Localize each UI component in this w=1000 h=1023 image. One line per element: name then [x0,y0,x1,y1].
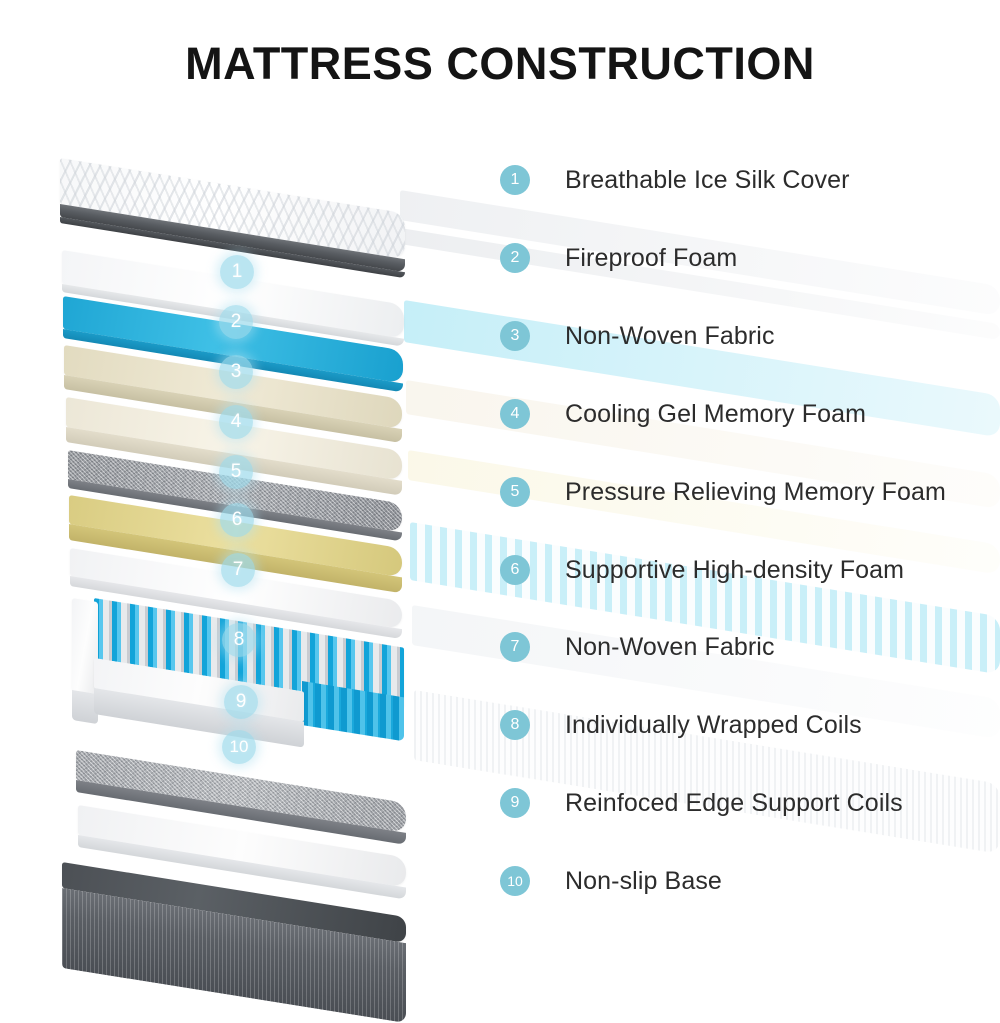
diagram-marker-7: 7 [221,553,255,587]
legend-item-1: 1 Breathable Ice Silk Cover [500,159,850,201]
legend-badge-6: 6 [500,555,530,585]
legend-badge-4: 4 [500,399,530,429]
legend-item-4: 4 Cooling Gel Memory Foam [500,393,866,435]
diagram-marker-2: 2 [219,305,253,339]
legend-badge-1: 1 [500,165,530,195]
construction-legend: 1 Breathable Ice Silk Cover 2 Fireproof … [500,150,1000,940]
legend-label-5: Pressure Relieving Memory Foam [565,478,946,507]
legend-badge-3: 3 [500,321,530,351]
legend-badge-9: 9 [500,788,530,818]
diagram-marker-1: 1 [220,255,254,289]
legend-item-9: 9 Reinfoced Edge Support Coils [500,782,903,824]
legend-item-2: 2 Fireproof Foam [500,237,737,279]
diagram-marker-5: 5 [219,455,253,489]
diagram-marker-10-label: 10 [230,737,249,757]
diagram-marker-4: 4 [219,405,253,439]
legend-label-8: Individually Wrapped Coils [565,711,862,740]
legend-badge-5: 5 [500,477,530,507]
legend-item-5: 5 Pressure Relieving Memory Foam [500,471,946,513]
diagram-marker-6: 6 [220,503,254,537]
page-title: MATTRESS CONSTRUCTION [0,38,1000,90]
legend-badge-5-number: 5 [511,483,520,501]
legend-badge-3-number: 3 [511,327,520,345]
legend-label-9: Reinfoced Edge Support Coils [565,789,903,818]
legend-badge-1-number: 1 [511,171,520,189]
diagram-marker-2-label: 2 [231,311,242,333]
legend-badge-4-number: 4 [511,405,520,423]
legend-item-3: 3 Non-Woven Fabric [500,315,775,357]
legend-badge-10-number: 10 [507,873,523,889]
diagram-marker-1-label: 1 [232,261,243,283]
legend-badge-7-number: 7 [511,638,520,656]
legend-label-7: Non-Woven Fabric [565,633,775,662]
diagram-marker-10: 10 [222,730,256,764]
diagram-marker-5-label: 5 [231,461,242,483]
legend-label-1: Breathable Ice Silk Cover [565,166,850,195]
legend-badge-10: 10 [500,866,530,896]
legend-item-7: 7 Non-Woven Fabric [500,626,775,668]
legend-item-6: 6 Supportive High-density Foam [500,549,904,591]
mattress-exploded-diagram: 1 2 3 4 5 6 7 8 9 10 [0,150,500,970]
diagram-marker-7-label: 7 [233,559,244,581]
legend-badge-6-number: 6 [511,561,520,579]
legend-item-8: 8 Individually Wrapped Coils [500,704,862,746]
diagram-marker-8-label: 8 [234,629,245,651]
legend-badge-2-number: 2 [511,249,520,267]
diagram-marker-3: 3 [219,355,253,389]
diagram-marker-4-label: 4 [231,411,242,433]
legend-label-10: Non-slip Base [565,867,722,896]
legend-label-3: Non-Woven Fabric [565,322,775,351]
legend-badge-2: 2 [500,243,530,273]
diagram-marker-9: 9 [224,685,258,719]
legend-label-6: Supportive High-density Foam [565,556,904,585]
legend-item-10: 10 Non-slip Base [500,860,722,902]
legend-badge-8: 8 [500,710,530,740]
diagram-marker-9-label: 9 [236,691,247,713]
legend-label-2: Fireproof Foam [565,244,737,273]
diagram-marker-8: 8 [222,623,256,657]
diagram-marker-3-label: 3 [231,361,242,383]
legend-badge-8-number: 8 [511,716,520,734]
legend-label-4: Cooling Gel Memory Foam [565,400,866,429]
diagram-marker-6-label: 6 [232,509,243,531]
legend-badge-9-number: 9 [511,794,520,812]
legend-badge-7: 7 [500,632,530,662]
